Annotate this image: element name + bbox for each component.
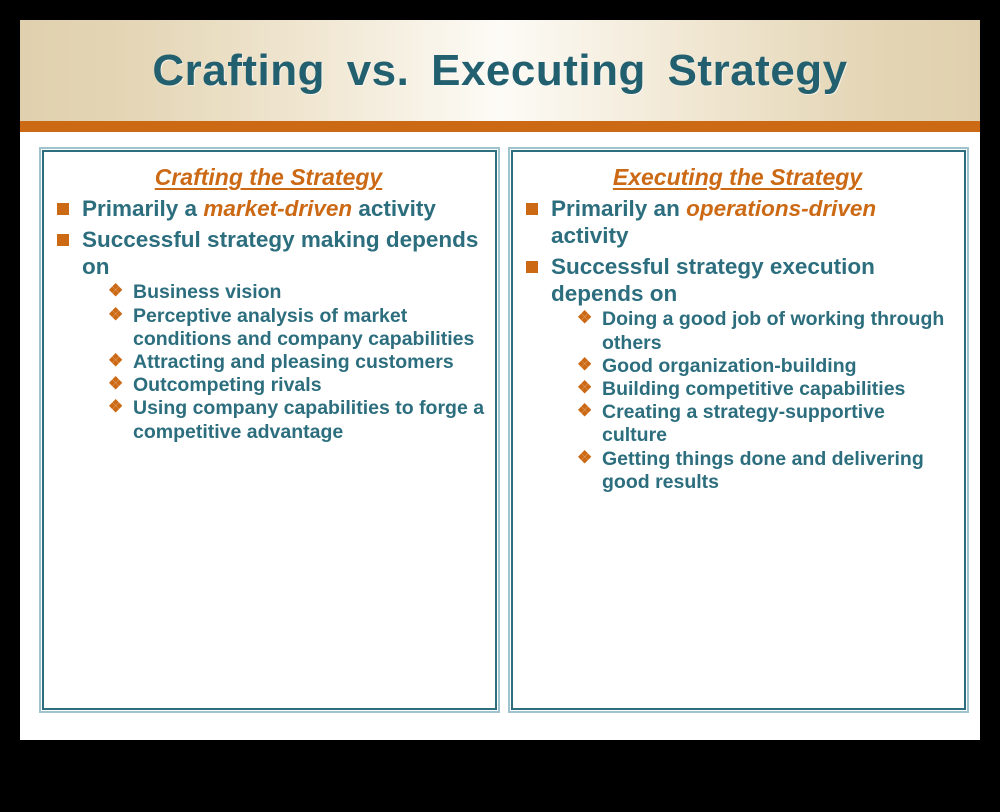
diamond-bullet-icon: ❖ <box>577 377 592 399</box>
square-bullet-icon <box>526 203 538 215</box>
slide-canvas: Crafting vs. Executing Strategy Crafting… <box>20 20 980 740</box>
bullet-text-accent: market-driven <box>203 196 352 221</box>
bullet-text-accent: operations-driven <box>686 196 876 221</box>
panel-heading-executing: Executing the Strategy <box>521 164 954 190</box>
diamond-bullet-icon: ❖ <box>108 396 123 418</box>
sub-list-item: ❖ Perceptive analysis of market conditio… <box>108 305 485 351</box>
list-item: Successful strategy execution depends on… <box>521 253 954 494</box>
sub-list-item: ❖ Doing a good job of working through ot… <box>577 308 954 354</box>
sub-bullet-text: Outcompeting rivals <box>133 374 322 396</box>
diamond-bullet-icon: ❖ <box>108 350 123 372</box>
panel-crafting-strategy: Crafting the Strategy Primarily a market… <box>42 150 497 710</box>
sub-bullet-text: Doing a good job of working through othe… <box>602 308 944 353</box>
sub-bullet-text: Creating a strategy-supportive culture <box>602 401 885 446</box>
bullet-text-before: Primarily an <box>551 196 686 221</box>
sub-bullet-text: Getting things done and delivering good … <box>602 448 924 493</box>
diamond-bullet-icon: ❖ <box>577 307 592 329</box>
sub-list-item: ❖ Good organization-building <box>577 355 954 378</box>
diamond-bullet-icon: ❖ <box>577 400 592 422</box>
sub-bullet-list-executing: ❖ Doing a good job of working through ot… <box>551 308 954 494</box>
diamond-bullet-icon: ❖ <box>577 354 592 376</box>
bullet-list-executing: Primarily an operations-driven activity … <box>521 195 954 494</box>
panel-heading-crafting: Crafting the Strategy <box>52 164 485 190</box>
sub-list-item: ❖ Getting things done and delivering goo… <box>577 448 954 494</box>
list-item: Primarily an operations-driven activity <box>521 195 954 249</box>
bullet-list-crafting: Primarily a market-driven activity Succe… <box>52 195 485 443</box>
sub-bullet-text: Good organization-building <box>602 355 857 377</box>
square-bullet-icon <box>526 261 538 273</box>
sub-list-item: ❖ Using company capabilities to forge a … <box>108 397 485 443</box>
sub-list-item: ❖ Building competitive capabilities <box>577 378 954 401</box>
sub-bullet-text: Attracting and pleasing customers <box>133 351 454 373</box>
sub-bullet-text: Building competitive capabilities <box>602 378 905 400</box>
panel-executing-strategy: Executing the Strategy Primarily an oper… <box>511 150 966 710</box>
bullet-text-after: activity <box>352 196 436 221</box>
square-bullet-icon <box>57 234 69 246</box>
list-item: Primarily a market-driven activity <box>52 195 485 222</box>
sub-bullet-text: Perceptive analysis of market conditions… <box>133 305 474 350</box>
sub-list-item: ❖ Attracting and pleasing customers <box>108 351 485 374</box>
diamond-bullet-icon: ❖ <box>108 280 123 302</box>
accent-divider-bar <box>20 121 980 132</box>
bullet-text-after: activity <box>551 223 629 248</box>
sub-list-item: ❖ Creating a strategy-supportive culture <box>577 401 954 447</box>
bullet-text-before: Successful strategy execution depends on <box>551 254 875 306</box>
sub-bullet-text: Using company capabilities to forge a co… <box>133 397 484 442</box>
title-banner: Crafting vs. Executing Strategy <box>20 20 980 121</box>
diamond-bullet-icon: ❖ <box>577 447 592 469</box>
bullet-text-before: Successful strategy making depends on <box>82 227 478 279</box>
square-bullet-icon <box>57 203 69 215</box>
sub-bullet-text: Business vision <box>133 281 281 303</box>
diamond-bullet-icon: ❖ <box>108 373 123 395</box>
list-item: Successful strategy making depends on ❖ … <box>52 226 485 443</box>
sub-list-item: ❖ Business vision <box>108 281 485 304</box>
slide-letterbox: Crafting vs. Executing Strategy Crafting… <box>0 0 1000 812</box>
diamond-bullet-icon: ❖ <box>108 304 123 326</box>
sub-bullet-list-crafting: ❖ Business vision ❖ Perceptive analysis … <box>82 281 485 443</box>
page-title: Crafting vs. Executing Strategy <box>20 20 980 121</box>
bullet-text-before: Primarily a <box>82 196 203 221</box>
sub-list-item: ❖ Outcompeting rivals <box>108 374 485 397</box>
